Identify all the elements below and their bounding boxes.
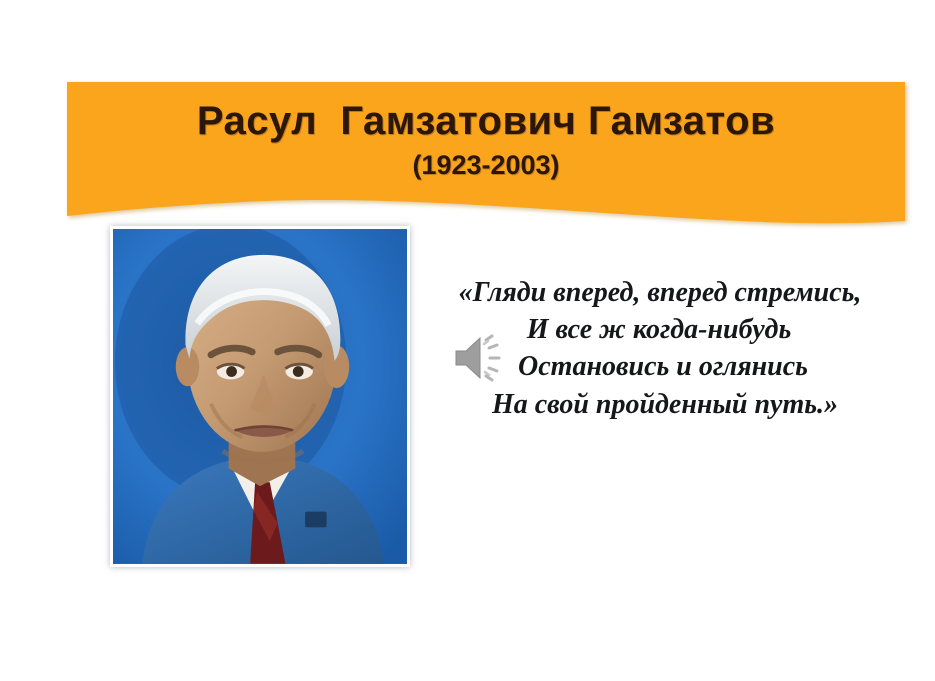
page-title: Расул Гамзатович Гамзатов [197, 100, 775, 142]
banner-text-block: Расул Гамзатович Гамзатов (1923-2003) [67, 82, 905, 202]
portrait-image [113, 229, 407, 564]
quote-line-1: «Гляди вперед, вперед стремись, [426, 274, 894, 311]
speaker-icon[interactable] [452, 330, 510, 386]
portrait-frame [110, 226, 410, 567]
life-years: (1923-2003) [412, 151, 559, 181]
presentation-slide: Расул Гамзатович Гамзатов (1923-2003) [0, 0, 935, 681]
quote-line-4: На свой пройденный путь.» [436, 386, 894, 423]
